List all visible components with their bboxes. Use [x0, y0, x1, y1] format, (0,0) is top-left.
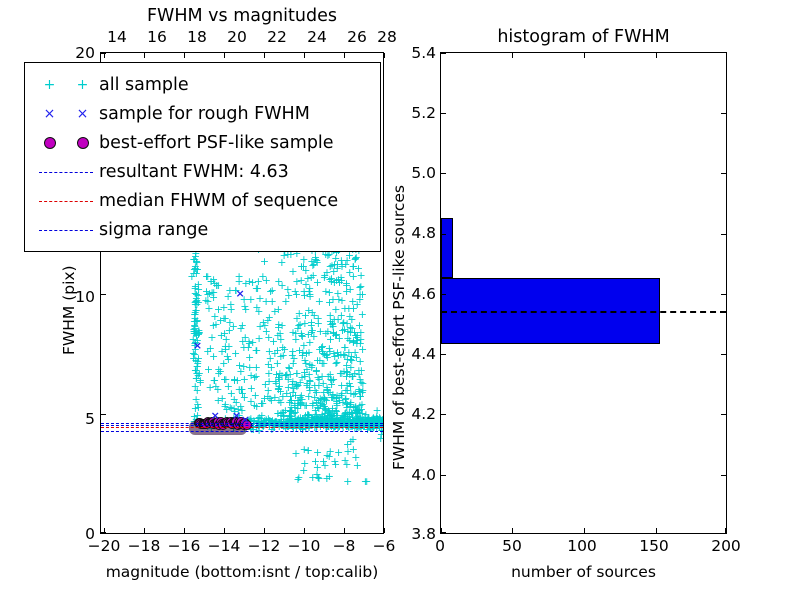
scatter-point: +: [348, 371, 357, 382]
scatter-point: +: [347, 355, 356, 366]
scatter-point: +: [189, 334, 198, 345]
scatter-point: +: [301, 265, 310, 276]
scatter-point: +: [292, 313, 301, 324]
scatter-point: +: [291, 407, 300, 418]
scatter-point: +: [351, 254, 360, 265]
scatter-point: +: [323, 349, 332, 360]
scatter-point: +: [299, 465, 308, 476]
scatter-point: +: [321, 328, 330, 339]
scatter-point: +: [325, 287, 334, 298]
scatter-point: +: [342, 402, 351, 413]
scatter-point: +: [276, 386, 285, 397]
scatter-point: +: [333, 288, 342, 299]
scatter-point: +: [286, 395, 295, 406]
scatter-point: +: [263, 391, 272, 402]
scatter-point: +: [278, 320, 287, 331]
scatter-point: +: [361, 476, 370, 487]
scatter-point: +: [326, 409, 335, 420]
scatter-point: +: [352, 338, 361, 349]
scatter-point: +: [293, 323, 302, 334]
right-xtick-100: 100: [564, 537, 600, 555]
scatter-point: +: [312, 387, 321, 398]
scatter-point: +: [314, 313, 323, 324]
scatter-point: +: [203, 296, 212, 307]
scatter-point: +: [343, 326, 352, 337]
scatter-point: +: [212, 280, 221, 291]
scatter-point: +: [225, 317, 234, 328]
scatter-point: +: [289, 383, 298, 394]
scatter-point: +: [343, 439, 352, 450]
scatter-point: +: [292, 368, 301, 379]
scatter-point: +: [305, 337, 314, 348]
scatter-point: +: [334, 314, 343, 325]
legend-item-rough-fwhm[interactable]: × × sample for rough FWHM: [33, 99, 370, 128]
scatter-point: +: [273, 408, 282, 419]
scatter-point: +: [326, 446, 335, 457]
scatter-point: +: [201, 295, 210, 306]
scatter-point: +: [323, 385, 332, 396]
scatter-point: +: [219, 358, 228, 369]
scatter-point: +: [192, 289, 201, 300]
scatter-point: +: [231, 285, 240, 296]
scatter-point: +: [360, 412, 369, 423]
scatter-point: +: [206, 343, 215, 354]
scatter-point: +: [326, 310, 335, 321]
scatter-point: +: [329, 374, 338, 385]
scatter-point: +: [210, 311, 219, 322]
scatter-point: +: [203, 346, 212, 357]
scatter-point: +: [335, 392, 344, 403]
scatter-point: +: [194, 353, 203, 364]
scatter-point: +: [288, 387, 297, 398]
scatter-point: +: [221, 313, 230, 324]
scatter-point: +: [267, 362, 276, 373]
scatter-point: +: [190, 321, 199, 332]
scatter-point: +: [224, 341, 233, 352]
scatter-point: +: [311, 385, 320, 396]
scatter-point: +: [294, 320, 303, 331]
scatter-point: +: [345, 409, 354, 420]
scatter-point: +: [318, 412, 327, 423]
scatter-point: +: [328, 294, 337, 305]
right-xtick-150: 150: [636, 537, 672, 555]
scatter-point: +: [325, 471, 334, 482]
scatter-point: +: [324, 406, 333, 417]
scatter-point: +: [341, 407, 350, 418]
scatter-point: +: [352, 332, 361, 343]
scatter-point: +: [261, 379, 270, 390]
scatter-point: +: [326, 374, 335, 385]
scatter-point: +: [306, 291, 315, 302]
scatter-point: +: [348, 371, 357, 382]
scatter-point: +: [338, 410, 347, 421]
scatter-point: +: [345, 401, 354, 412]
scatter-point: +: [224, 354, 233, 365]
scatter-point: +: [322, 382, 331, 393]
scatter-point: +: [323, 326, 332, 337]
scatter-point: +: [331, 330, 340, 341]
scatter-point: +: [260, 256, 269, 267]
scatter-point: +: [355, 320, 364, 331]
scatter-point: +: [356, 412, 365, 423]
left-tick-bottom-5: [304, 528, 305, 533]
histogram-bar-upper[interactable]: [441, 218, 453, 278]
right-tick-x-0: [441, 528, 442, 533]
scatter-point: +: [339, 349, 348, 360]
scatter-point: +: [279, 410, 288, 421]
scatter-point: +: [315, 355, 324, 366]
scatter-point: +: [193, 399, 202, 410]
scatter-point: +: [320, 408, 329, 419]
scatter-point: +: [302, 380, 311, 391]
scatter-point: +: [337, 368, 346, 379]
scatter-point: +: [315, 296, 324, 307]
scatter-point: +: [304, 305, 313, 316]
scatter-point: +: [192, 373, 201, 384]
scatter-point: +: [341, 393, 350, 404]
right-tick-xtop-150: [656, 53, 657, 58]
scatter-point: +: [299, 340, 308, 351]
scatter-point: +: [314, 318, 323, 329]
scatter-point: +: [192, 368, 201, 379]
scatter-point: +: [340, 303, 349, 314]
scatter-point: +: [333, 390, 342, 401]
scatter-point: +: [240, 392, 249, 403]
rough-fwhm-point: ×: [232, 410, 241, 421]
scatter-point: +: [326, 319, 335, 330]
scatter-point: +: [344, 347, 353, 358]
legend-key-dashdot: [33, 215, 99, 244]
scatter-point: +: [192, 257, 201, 268]
scatter-point: +: [330, 314, 339, 325]
scatter-point: +: [284, 382, 293, 393]
scatter-point: +: [328, 389, 337, 400]
scatter-point: +: [241, 304, 250, 315]
scatter-point: +: [353, 460, 362, 471]
scatter-point: +: [250, 372, 259, 383]
scatter-point: +: [355, 369, 364, 380]
scatter-point: +: [192, 268, 201, 279]
scatter-point: +: [356, 391, 365, 402]
left-xtick-top-5: 24: [304, 28, 330, 46]
scatter-point: +: [191, 283, 200, 294]
scatter-point: +: [298, 394, 307, 405]
scatter-point: +: [343, 354, 352, 365]
scatter-point: +: [286, 406, 295, 417]
scatter-point: +: [310, 392, 319, 403]
scatter-point: +: [226, 299, 235, 310]
scatter-point: +: [273, 358, 282, 369]
scatter-point: +: [326, 387, 335, 398]
scatter-point: +: [265, 393, 274, 404]
scatter-point: +: [286, 369, 295, 380]
scatter-point: +: [277, 257, 286, 268]
scatter-point: +: [310, 310, 319, 321]
scatter-point: +: [354, 365, 363, 376]
scatter-point: +: [272, 378, 281, 389]
scatter-point: +: [267, 395, 276, 406]
right-tick-y2-4.0: [721, 475, 726, 476]
legend-item-resultant-fwhm[interactable]: resultant FWHM: 4.63: [33, 157, 370, 186]
scatter-point: +: [194, 370, 203, 381]
scatter-point: +: [223, 351, 232, 362]
scatter-point: +: [290, 402, 299, 413]
scatter-point: +: [319, 399, 328, 410]
left-tick-bottom-1: [144, 528, 145, 533]
scatter-point: +: [329, 327, 338, 338]
left-tick-y-20: [101, 53, 106, 54]
scatter-point: +: [358, 344, 367, 355]
scatter-point: +: [237, 405, 246, 416]
scatter-point: +: [327, 375, 336, 386]
scatter-point: +: [293, 403, 302, 414]
scatter-point: +: [338, 259, 347, 270]
scatter-point: +: [193, 315, 202, 326]
scatter-point: +: [247, 383, 256, 394]
scatter-point: +: [343, 446, 352, 457]
scatter-point: +: [323, 352, 332, 363]
scatter-point: +: [276, 328, 285, 339]
scatter-point: +: [193, 410, 202, 421]
right-tick-y2-4.2: [721, 414, 726, 415]
scatter-point: +: [274, 322, 283, 333]
scatter-point: +: [301, 310, 310, 321]
scatter-point: +: [347, 314, 356, 325]
scatter-point: +: [342, 360, 351, 371]
scatter-point: +: [320, 394, 329, 405]
scatter-point: +: [314, 395, 323, 406]
scatter-point: +: [348, 412, 357, 423]
scatter-point: +: [353, 330, 362, 341]
scatter-point: +: [252, 345, 261, 356]
scatter-point: +: [307, 412, 316, 423]
scatter-point: +: [278, 407, 287, 418]
scatter-point: +: [330, 456, 339, 467]
scatter-point: +: [332, 398, 341, 409]
scatter-point: +: [295, 345, 304, 356]
legend-item-all-sample[interactable]: + + all sample: [33, 70, 370, 99]
scatter-point: +: [355, 405, 364, 416]
scatter-point: +: [323, 450, 332, 461]
scatter-point: +: [219, 313, 228, 324]
right-tick-y-4.0: [441, 475, 446, 476]
scatter-point: +: [286, 406, 295, 417]
scatter-point: +: [320, 272, 329, 283]
scatter-point: +: [356, 289, 365, 300]
legend-box: + + all sample × × sample for rough FWHM…: [24, 62, 381, 252]
scatter-point: +: [235, 271, 244, 282]
scatter-point: +: [333, 263, 342, 274]
scatter-point: +: [326, 369, 335, 380]
scatter-point: +: [292, 368, 301, 379]
scatter-point: +: [193, 356, 202, 367]
left-tick-y-5: [101, 414, 106, 415]
scatter-point: +: [291, 390, 300, 401]
legend-item-sigma-range[interactable]: sigma range: [33, 215, 370, 244]
scatter-point: +: [234, 404, 243, 415]
scatter-point: +: [208, 287, 217, 298]
scatter-point: +: [191, 355, 200, 366]
scatter-point: +: [290, 408, 299, 419]
scatter-point: +: [296, 392, 305, 403]
scatter-point: +: [276, 397, 285, 408]
legend-label: sample for rough FWHM: [99, 104, 310, 124]
scatter-point: +: [333, 259, 342, 270]
scatter-point: +: [252, 362, 261, 373]
scatter-point: +: [189, 353, 198, 364]
scatter-point: +: [212, 280, 221, 291]
scatter-point: +: [307, 272, 316, 283]
left-tick-top-5: [304, 53, 305, 58]
scatter-point: +: [209, 351, 218, 362]
scatter-point: +: [245, 276, 254, 287]
scatter-point: +: [325, 410, 334, 421]
scatter-point: +: [332, 275, 341, 286]
scatter-point: +: [205, 288, 214, 299]
scatter-point: +: [340, 342, 349, 353]
scatter-point: +: [274, 319, 283, 330]
scatter-point: +: [342, 280, 351, 291]
scatter-point: +: [343, 380, 352, 391]
scatter-point: +: [369, 412, 378, 423]
circle-icon: [44, 137, 56, 149]
scatter-point: +: [290, 379, 299, 390]
legend-item-median-fwhm[interactable]: median FHWM of sequence: [33, 186, 370, 215]
right-tick-x-200: [725, 528, 726, 533]
right-xtick-200: 200: [708, 537, 744, 555]
scatter-point: +: [298, 331, 307, 342]
scatter-point: +: [321, 404, 330, 415]
scatter-point: +: [331, 358, 340, 369]
histogram-plot-area: [441, 53, 726, 533]
scatter-point: +: [343, 399, 352, 410]
scatter-point: +: [349, 402, 358, 413]
left-tick-top-4: [264, 53, 265, 58]
scatter-point: +: [303, 273, 312, 284]
scatter-point: +: [281, 370, 290, 381]
scatter-point: +: [331, 459, 340, 470]
scatter-point: +: [246, 396, 255, 407]
scatter-point: +: [275, 368, 284, 379]
scatter-point: +: [229, 321, 238, 332]
scatter-point: +: [312, 409, 321, 420]
scatter-point: +: [357, 365, 366, 376]
scatter-point: +: [326, 410, 335, 421]
scatter-point: +: [192, 394, 201, 405]
scatter-point: +: [297, 328, 306, 339]
scatter-point: +: [342, 366, 351, 377]
scatter-point: +: [202, 271, 211, 282]
scatter-point: +: [313, 355, 322, 366]
right-tick-y-5.4: [441, 53, 446, 54]
scatter-point: +: [290, 400, 299, 411]
scatter-point: +: [358, 387, 367, 398]
legend-item-psf-sample[interactable]: best-effort PSF-like sample: [33, 128, 370, 157]
scatter-point: +: [313, 447, 322, 458]
scatter-point: +: [221, 399, 230, 410]
scatter-point: +: [193, 335, 202, 346]
scatter-point: +: [289, 358, 298, 369]
scatter-point: +: [209, 320, 218, 331]
scatter-point: +: [245, 352, 254, 363]
scatter-point: +: [236, 323, 245, 334]
scatter-point: +: [346, 284, 355, 295]
scatter-point: +: [310, 413, 319, 424]
scatter-point: +: [304, 347, 313, 358]
scatter-point: +: [336, 349, 345, 360]
scatter-point: +: [355, 294, 364, 305]
left-xtick-bottom-1: −18: [126, 537, 162, 555]
right-tick-x-150: [656, 528, 657, 533]
scatter-point: +: [271, 376, 280, 387]
scatter-point: +: [345, 369, 354, 380]
left-tick-bottom-2: [184, 528, 185, 533]
scatter-point: +: [320, 349, 329, 360]
scatter-point: +: [361, 409, 370, 420]
scatter-point: +: [316, 400, 325, 411]
scatter-point: +: [273, 330, 282, 341]
scatter-point: +: [312, 397, 321, 408]
scatter-point: +: [358, 408, 367, 419]
scatter-point: +: [293, 474, 302, 485]
scatter-point: +: [195, 368, 204, 379]
scatter-point: +: [277, 370, 286, 381]
scatter-point: +: [336, 368, 345, 379]
scatter-point: +: [356, 338, 365, 349]
scatter-point: +: [344, 303, 353, 314]
scatter-point: +: [372, 411, 381, 422]
scatter-point: +: [214, 364, 223, 375]
scatter-point: +: [220, 401, 229, 412]
scatter-point: +: [191, 307, 200, 318]
scatter-point: +: [334, 350, 343, 361]
scatter-point: +: [343, 255, 352, 266]
scatter-point: +: [203, 289, 212, 300]
right-tick-y-4.2: [441, 414, 446, 415]
scatter-point: +: [335, 333, 344, 344]
scatter-point: +: [293, 395, 302, 406]
scatter-point: +: [264, 359, 273, 370]
scatter-point: +: [345, 267, 354, 278]
scatter-point: +: [335, 395, 344, 406]
scatter-point: +: [252, 371, 261, 382]
scatter-point: +: [352, 408, 361, 419]
scatter-point: +: [230, 406, 239, 417]
scatter-point: +: [312, 255, 321, 266]
scatter-point: +: [211, 381, 220, 392]
scatter-point: +: [230, 374, 239, 385]
scatter-point: +: [337, 275, 346, 286]
scatter-point: +: [341, 394, 350, 405]
scatter-point: +: [307, 256, 316, 267]
scatter-point: +: [235, 360, 244, 371]
scatter-point: +: [285, 397, 294, 408]
scatter-point: +: [300, 444, 309, 455]
scatter-point: +: [287, 395, 296, 406]
legend-label: median FHWM of sequence: [99, 191, 338, 211]
scatter-point: +: [225, 285, 234, 296]
scatter-point: +: [291, 328, 300, 339]
scatter-point: +: [264, 332, 273, 343]
scatter-point: +: [210, 375, 219, 386]
scatter-point: +: [351, 253, 360, 264]
scatter-point: +: [349, 271, 358, 282]
scatter-point: +: [333, 347, 342, 358]
scatter-point: +: [315, 344, 324, 355]
scatter-point: +: [311, 252, 320, 263]
scatter-point: +: [329, 328, 338, 339]
scatter-point: +: [263, 315, 272, 326]
